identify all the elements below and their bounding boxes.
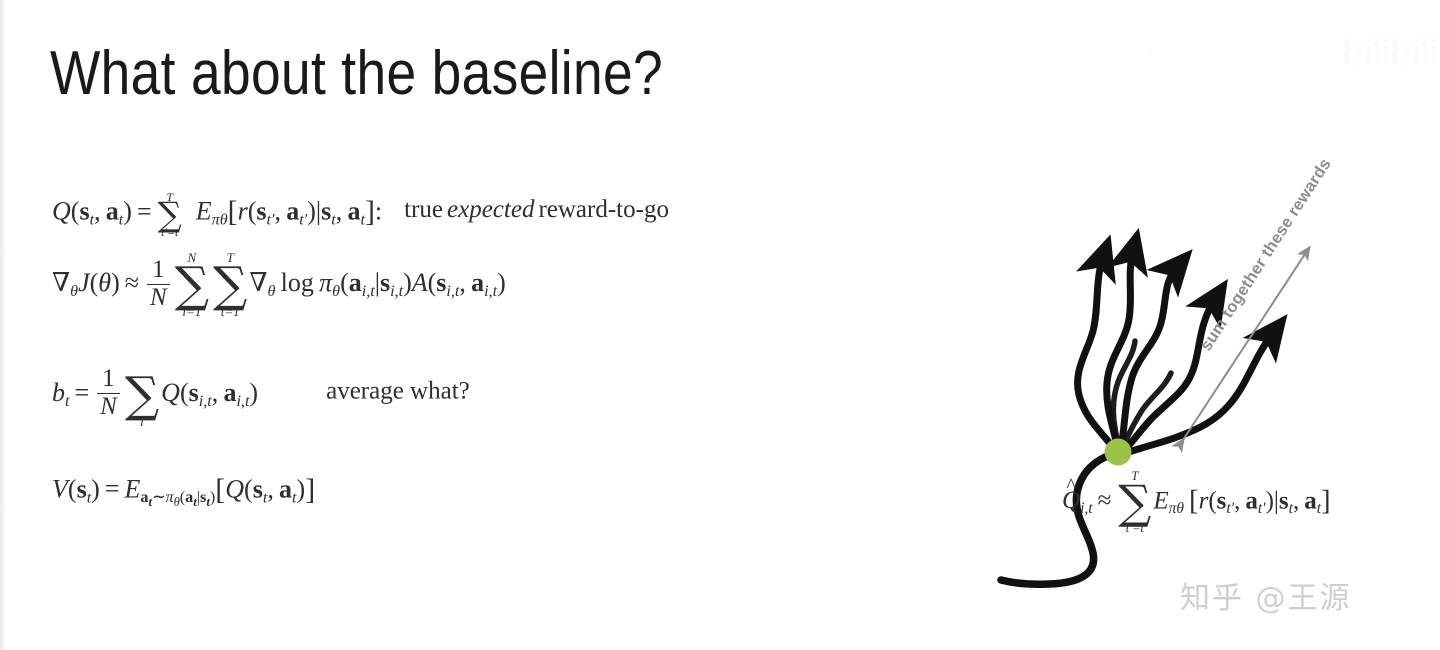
eq1-sum-upper: T [166,192,173,204]
eq2-s-sub: i,t [390,283,403,300]
equation-baseline: bt=1N ∑iQ(si,t, ai,t) average what? [52,361,952,429]
eq3-a: a [223,378,236,407]
sigma-icon: ∑ [125,375,159,415]
eq1-note-before: true [404,196,443,223]
eq3-a-sub: i,t [236,393,249,410]
eq3-sum: ∑i [125,361,159,429]
equation-value-function: V(st)=Eat∼πθ(at|st)[Q(st, at)] [52,475,952,509]
eq2-frac-den: N [147,285,170,311]
qhat-s: s [1217,487,1227,514]
eq2-nabla2-sub: θ [268,283,276,300]
qhat-approx: ≈ [1093,487,1117,514]
eq1-note-after: reward-to-go [538,196,669,223]
qhat-s-sub: t′ [1226,500,1234,517]
eq2-sum-i: N∑i=1 [175,251,209,319]
eq1-s2-sub: t′ [267,212,275,229]
eq4-pi: π [166,489,174,506]
trajectory-path-2 [1107,251,1133,450]
qhat-a2: a [1304,487,1317,514]
eq3-b: b [52,378,65,407]
eq4-a3: a [279,474,292,503]
eq2-J: J [78,268,90,297]
eq4-V: V [52,474,68,503]
qhat-E-sub: πθ [1169,500,1184,517]
eq2-approx: ≈ [120,268,144,297]
eq1-colon: : [375,197,382,226]
qhat-bracket-close: ] [1321,485,1331,517]
eq2-nabla: ∇ [52,268,70,297]
slide-canvas: What about the baseline? Q(st, at)=T∑t′=… [0,0,1440,650]
qhat-r: r [1199,487,1209,514]
qhat-s2: s [1279,487,1289,514]
qhat-sub: i,t [1080,500,1093,517]
equation-qhat-estimate: ^Qi,t≈T∑t′=tEπθ [r(st′, at′)|st, at] [1062,470,1331,535]
eq1-sum-lower: t′=t [161,227,178,239]
qhat-bracket-open: [ [1189,485,1199,517]
eq4-sim: ∼ [152,489,166,506]
eq1-note-italic: expected [447,196,534,223]
eq1-bracket-open: [ [228,195,238,228]
sigma-icon: ∑ [1118,483,1151,522]
eq1-Q: Q [52,197,71,226]
eq2-s2-sub: i,t [446,283,459,300]
sigma-icon: ∑ [213,265,247,305]
eq1-s: s [79,197,89,226]
eq1-E: E [196,197,212,226]
eq3-equals: = [69,378,94,407]
eq1-r: r [238,197,248,226]
equation-block: Q(st, at)=T∑t′=t Eπθ[r(st′, at′)|st, at]… [52,196,952,509]
bilibili-watermark: 哔哩哔哩 bilibili [1148,30,1438,78]
eq2-pi-sub: θ [332,283,340,300]
eq2-a: a [349,268,362,297]
eq1-s3: s [321,197,331,226]
eq1-sum: T∑t′=t [158,201,182,228]
eq2-log: log [281,268,314,297]
bilibili-watermark-text: 哔哩哔哩 [1148,44,1212,65]
eq2-pi: π [319,268,332,297]
eq4-Q: Q [225,474,244,503]
eq2-frac-num: 1 [147,258,170,285]
eq1-s2: s [256,197,266,226]
eq1-bracket-close: ] [365,195,375,228]
trajectory-diagram [985,195,1335,615]
qhat-accent: ^ [1066,476,1075,496]
eq2-s: s [380,268,390,297]
eq1-a: a [106,197,119,226]
eq1-equals: = [132,197,157,226]
eq2-a-sub: i,t [362,283,375,300]
eq4-equals: = [100,474,125,503]
equation-policy-gradient: ∇θJ(θ)≈1NN∑i=1T∑t=1∇θ log πθ(ai,t|si,t)A… [52,251,952,319]
eq2-A: A [412,268,428,297]
qhat-a-sub: t′ [1258,500,1266,517]
bilibili-logo: bilibili [1342,32,1438,74]
eq1-a3: a [347,197,360,226]
qhat-a: a [1245,487,1258,514]
eq3-Q: Q [161,378,180,407]
eq2-s2: s [436,268,446,297]
eq1-close-paren: ) [123,197,132,226]
eq4-s3: s [253,474,263,503]
eq4-E: E [125,474,141,503]
eq2-fraction: 1N [147,258,170,311]
eq2-theta: θ [98,268,111,297]
eq2-sum-t: T∑t=1 [213,251,247,319]
page-edge [0,0,5,650]
eq3-fraction: 1N [97,367,120,420]
qhat-sum: T∑t′=t [1118,470,1151,535]
eq2-a2-sub: i,t [484,283,497,300]
state-dot [1105,439,1132,466]
sigma-icon: ∑ [175,265,209,305]
eq2-a2: a [471,268,484,297]
eq1-comma: , [94,197,101,226]
eq3-frac-num: 1 [97,367,120,394]
qhat-E: E [1153,487,1168,514]
eq3-annotation: average what? [326,377,470,404]
eq4-s: s [77,474,87,503]
equation-q-definition: Q(st, at)=T∑t′=t Eπθ[r(st′, at′)|st, at]… [52,196,952,229]
page-title: What about the baseline? [50,38,663,109]
eq2-nabla-sub: θ [70,283,78,300]
eq1-E-sub: πθ [212,212,228,229]
eq3-frac-den: N [97,394,120,420]
eq1-a2: a [286,197,299,226]
eq2-nabla2: ∇ [249,268,267,297]
zhihu-watermark: 知乎 @王源 [1180,573,1352,617]
eq3-s-sub: i,t [199,393,212,410]
qhat-wrap: ^Q [1062,488,1080,513]
eq3-s: s [189,378,199,407]
